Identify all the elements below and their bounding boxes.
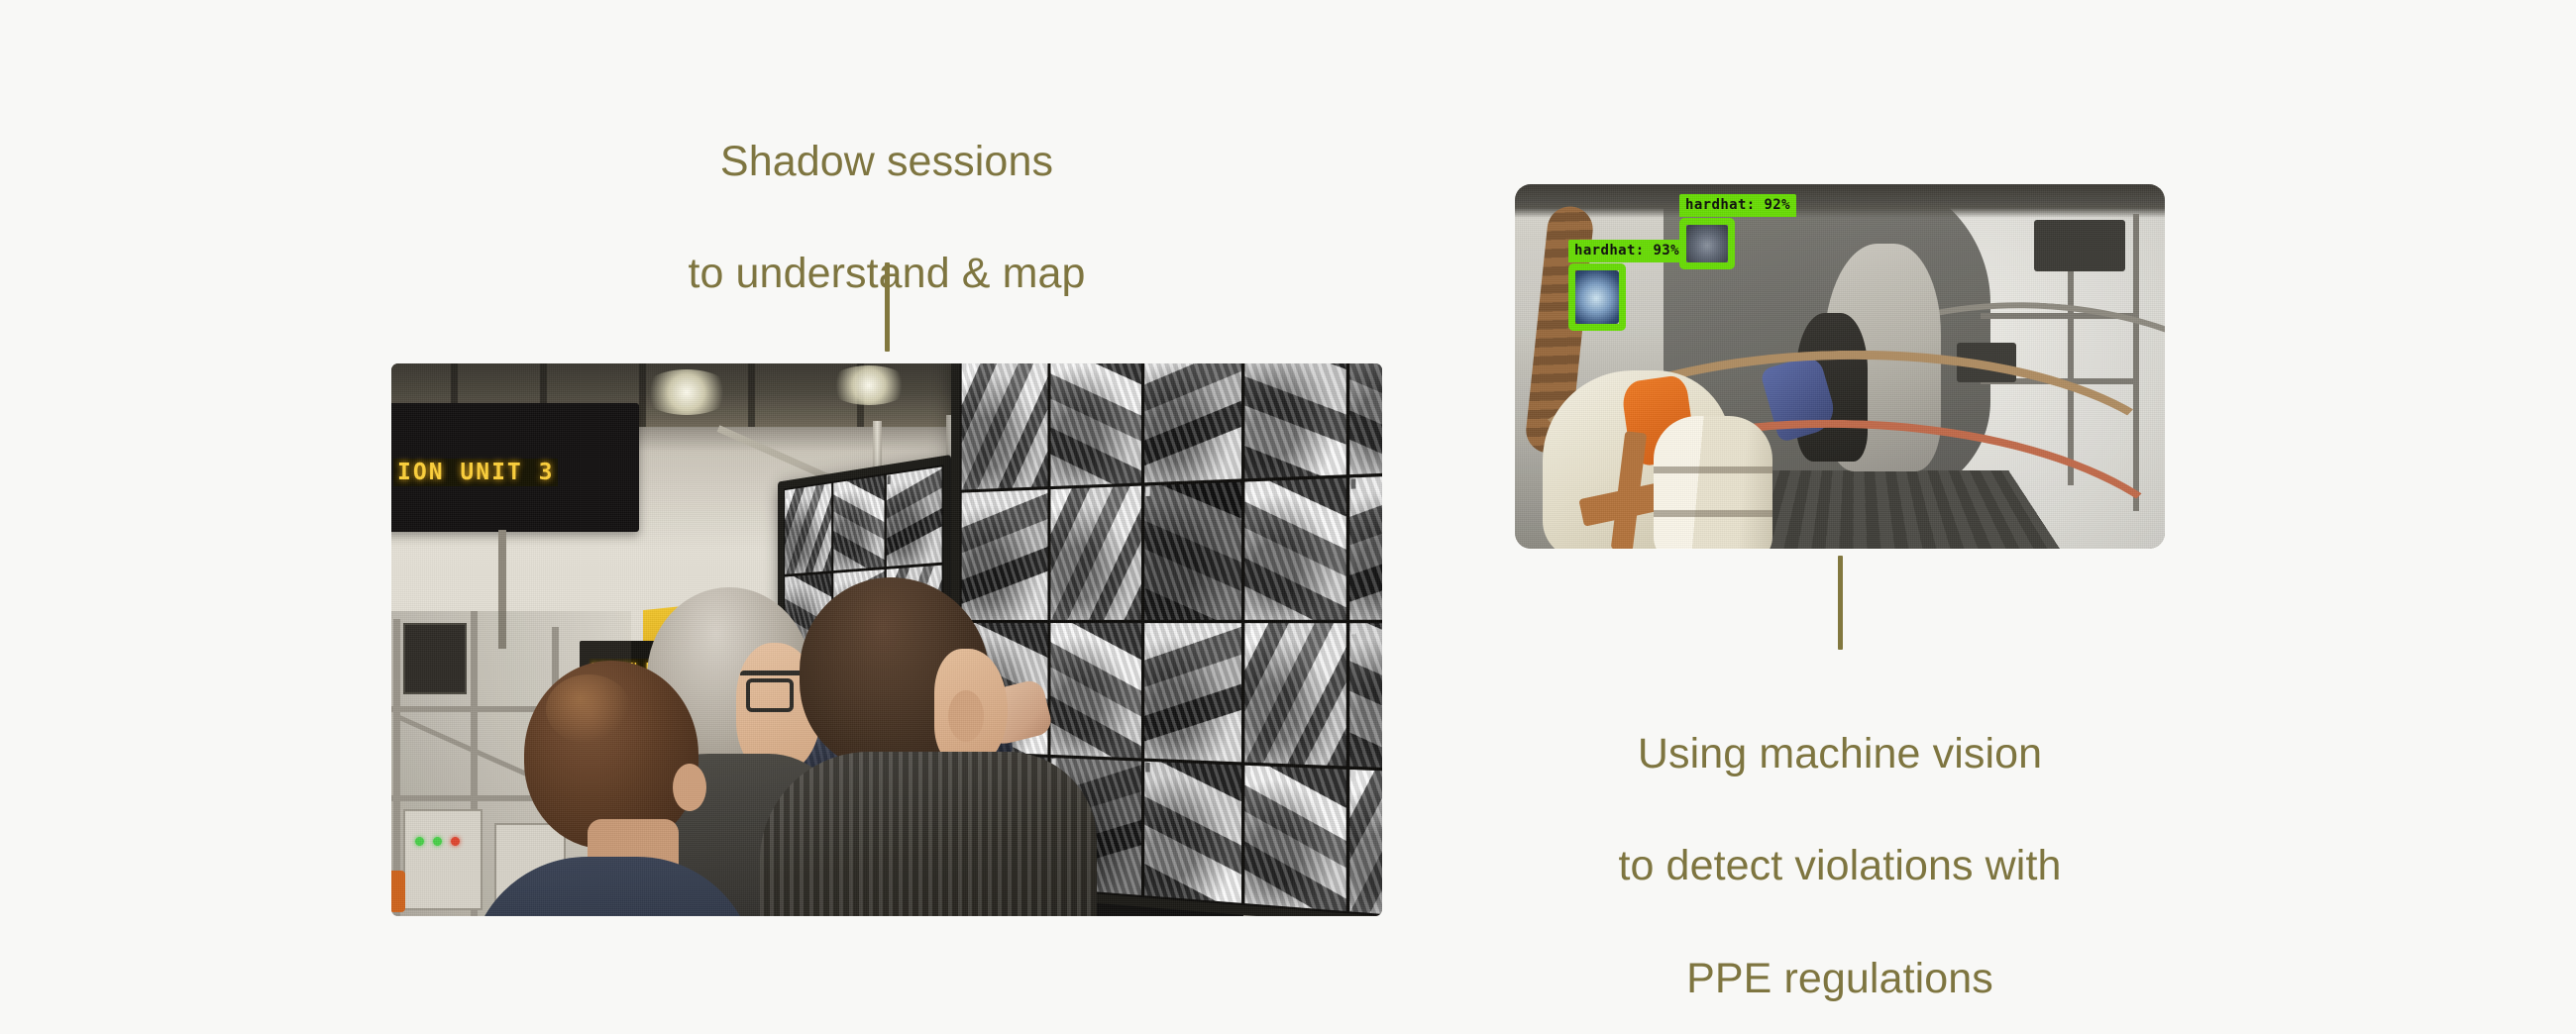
worker-with-tank xyxy=(1523,331,1780,549)
ceiling-lamp xyxy=(827,365,911,405)
ppe-detection-cctv-photo: hardhat: 93% hardhat: 92% xyxy=(1515,184,2165,549)
caption-line: Shadow sessions xyxy=(391,134,1382,190)
cctv-cell xyxy=(833,475,884,570)
cctv-cell xyxy=(1145,623,1241,762)
detection-bounding-box xyxy=(1679,218,1735,269)
cctv-cell xyxy=(887,466,942,567)
connector-stem-right xyxy=(1838,556,1843,650)
cctv-cell xyxy=(1244,765,1346,911)
cctv-cell xyxy=(1349,363,1382,474)
cctv-cell xyxy=(1349,769,1382,916)
cctv-cell xyxy=(1051,363,1142,486)
person-pointing xyxy=(760,577,1097,916)
overhead-shadow xyxy=(1515,184,2165,218)
caption-line: to detect violations with xyxy=(1515,838,2165,894)
cctv-cell xyxy=(1349,623,1382,770)
caption-line: Using machine vision xyxy=(1515,726,2165,782)
detection-bounding-box xyxy=(1568,263,1626,331)
overhead-sign-text: ION UNIT 3 xyxy=(393,459,558,486)
connector-stem-left xyxy=(885,262,890,352)
cctv-cell xyxy=(1145,363,1241,482)
cctv-cell xyxy=(1145,481,1241,620)
cctv-cell xyxy=(1349,473,1382,620)
ceiling-lamp xyxy=(641,369,732,415)
control-room-monitor-wall-photo: ION UNIT 3 BERGEN PROCESS PLANT SEPARATI… xyxy=(391,363,1382,916)
infographic-board: Shadow sessions to understand & map the … xyxy=(0,0,2576,1034)
caption-machine-vision: Using machine vision to detect violation… xyxy=(1515,670,2165,1034)
cctv-cell xyxy=(1244,363,1346,478)
equipment-box xyxy=(2034,220,2125,271)
caption-line: PPE regulations xyxy=(1515,951,2165,1007)
cctv-cell xyxy=(1145,761,1241,903)
detection-label: hardhat: 93% xyxy=(1568,240,1685,262)
cctv-cell xyxy=(962,363,1048,489)
cctv-cell xyxy=(1244,477,1346,620)
detection-label: hardhat: 92% xyxy=(1679,194,1796,217)
cctv-cell xyxy=(785,483,831,574)
person-foreground xyxy=(469,661,756,916)
overhead-sign-board: ION UNIT 3 xyxy=(391,403,639,532)
cctv-cell xyxy=(1244,623,1346,766)
